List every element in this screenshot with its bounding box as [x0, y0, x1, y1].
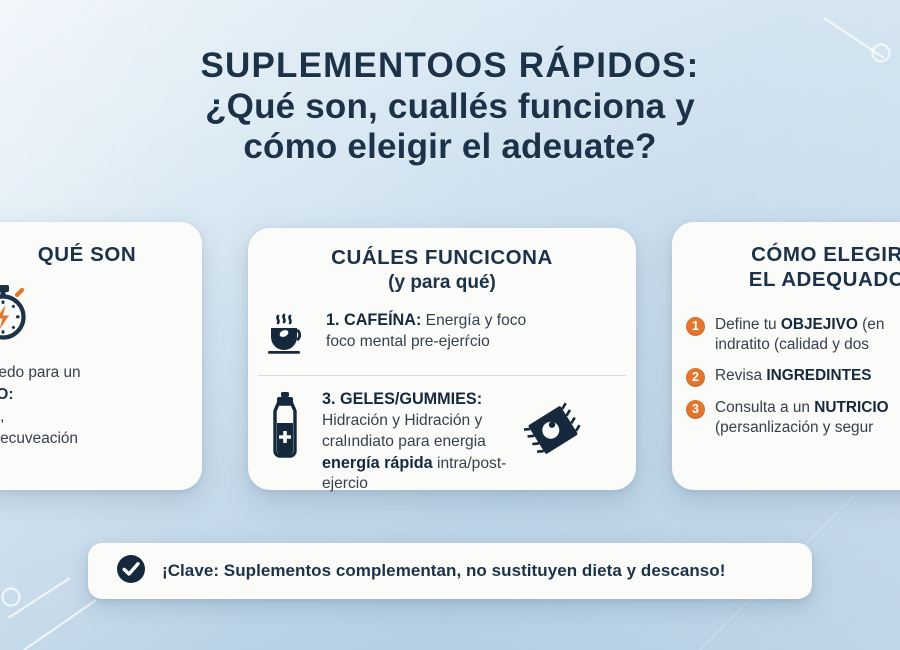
card-middle-item-2-line-1: Hidración y Hidración y [322, 411, 506, 432]
card-middle-item-2-heading: 3. GELES/GUMMIES: [322, 390, 482, 408]
card-middle-item-2-line-3-rest: intra/post- [433, 455, 507, 472]
card-right-title-line-1: CÓMO ELEGIR [672, 242, 900, 267]
list-item: 1 Define tu OBJEJIVO (en indratito (cali… [686, 315, 900, 355]
card-left-body-line-3-rest: : energía, [0, 408, 4, 425]
card-middle-item-1-line-1: Energía y foco [421, 312, 526, 329]
card-right-title: CÓMO ELEGIR EL ADEQUADO [672, 242, 900, 293]
card-right-item-1-pre: Define tu [715, 316, 781, 333]
page-title-line-3: cómo eleigir el adeuate? [0, 127, 900, 168]
card-middle-item-2-line-3-bold: energía rápida [322, 454, 433, 472]
card-left-body-line-4: centación o recuveación [0, 428, 192, 450]
list-item: 2 Revisa INGREDINTES [686, 366, 900, 387]
card-middle-item-1-heading: 1. CAFEÍNA: [326, 311, 421, 329]
card-middle-subtitle: (y para qué) [248, 272, 636, 294]
card-left-body: ductos disénedo para un CTO RÁPIDO: IDO:… [0, 362, 202, 471]
card-right-item-2-text: Revisa INGREDINTES [715, 366, 872, 386]
banner-text: ¡Clave: Suplementos complementan, no sus… [162, 561, 725, 581]
card-middle-title: CUÁLES FUNCICONA [248, 245, 636, 270]
card-right-item-2-pre: Revisa [715, 367, 766, 384]
card-right-item-3-bold: NUTRICIO [814, 399, 888, 416]
card-middle-item-2-line-2: cralındiato para energia [322, 432, 506, 453]
card-middle-item-2-text: 3. GELES/GUMMIES: Hidración y Hidración … [322, 389, 506, 495]
key-takeaway-banner: ¡Clave: Suplementos complementan, no sus… [88, 543, 812, 599]
card-right-item-1-text: Define tu OBJEJIVO (en indratito (calida… [715, 315, 884, 355]
card-right-title-line-2: EL ADEQUADO [672, 267, 900, 292]
card-cuales-funciona: CUÁLES FUNCICONA (y para qué) 1. CAFEÍNA… [248, 228, 636, 490]
card-left-body-line-5: ediate. [0, 450, 192, 472]
card-middle-item-1-line-2: foco mental pre-ejerŕcio [326, 332, 526, 353]
card-right-item-3-pre: Consulta a un [715, 399, 814, 416]
card-que-son: QUÉ SON ductos disénedo para un CTO RÁPI… [0, 222, 202, 490]
card-left-body-line-1: ductos disénedo para un [0, 362, 192, 384]
list-item: 1. CAFEÍNA: Energía y foco foco mental p… [248, 310, 636, 375]
card-middle-divider [258, 375, 626, 376]
water-bottle-icon [264, 389, 306, 464]
page-title-line-2: ¿Qué son, cuallés funciona y [0, 87, 900, 128]
number-badge-1: 1 [686, 317, 705, 336]
coffee-cup-icon [264, 310, 310, 361]
card-right-item-2-bold: INGREDINTES [766, 367, 871, 384]
list-item: 3 Consulta a un NUTRICIO (persanlización… [686, 398, 900, 438]
page-title: SUPLEMENTOOS RÁPIDOS: ¿Qué son, cuallés … [0, 46, 900, 168]
stopwatch-bolt-icon [0, 281, 202, 348]
gel-packet-icon [524, 389, 582, 464]
page-title-line-1: SUPLEMENTOOS RÁPIDOS: [0, 46, 900, 87]
card-right-item-3-text: Consulta a un NUTRICIO (persanlización y… [715, 398, 889, 438]
check-circle-icon [116, 554, 146, 589]
card-right-item-3-line-2: (persanlización y segur [715, 418, 889, 438]
card-right-item-1-line-2: indratito (calidad y dos [715, 335, 884, 355]
card-right-item-1-bold: OBJEJIVO [781, 316, 858, 333]
number-badge-2: 2 [686, 368, 705, 387]
number-badge-3: 3 [686, 400, 705, 419]
list-item: 3. GELES/GUMMIES: Hidración y Hidración … [248, 389, 636, 495]
card-como-elegir: CÓMO ELEGIR EL ADEQUADO 1 Define tu OBJE… [672, 222, 900, 490]
card-middle-item-2-line-4: ejercio [322, 474, 506, 495]
card-right-list: 1 Define tu OBJEJIVO (en indratito (cali… [672, 315, 900, 438]
card-left-title: QUÉ SON [0, 242, 202, 267]
card-middle-item-1-text: 1. CAFEÍNA: Energía y foco foco mental p… [326, 310, 526, 352]
card-right-item-1-post: (en [858, 316, 885, 333]
card-left-body-line-2: CTO RÁPIDO: [0, 386, 13, 403]
